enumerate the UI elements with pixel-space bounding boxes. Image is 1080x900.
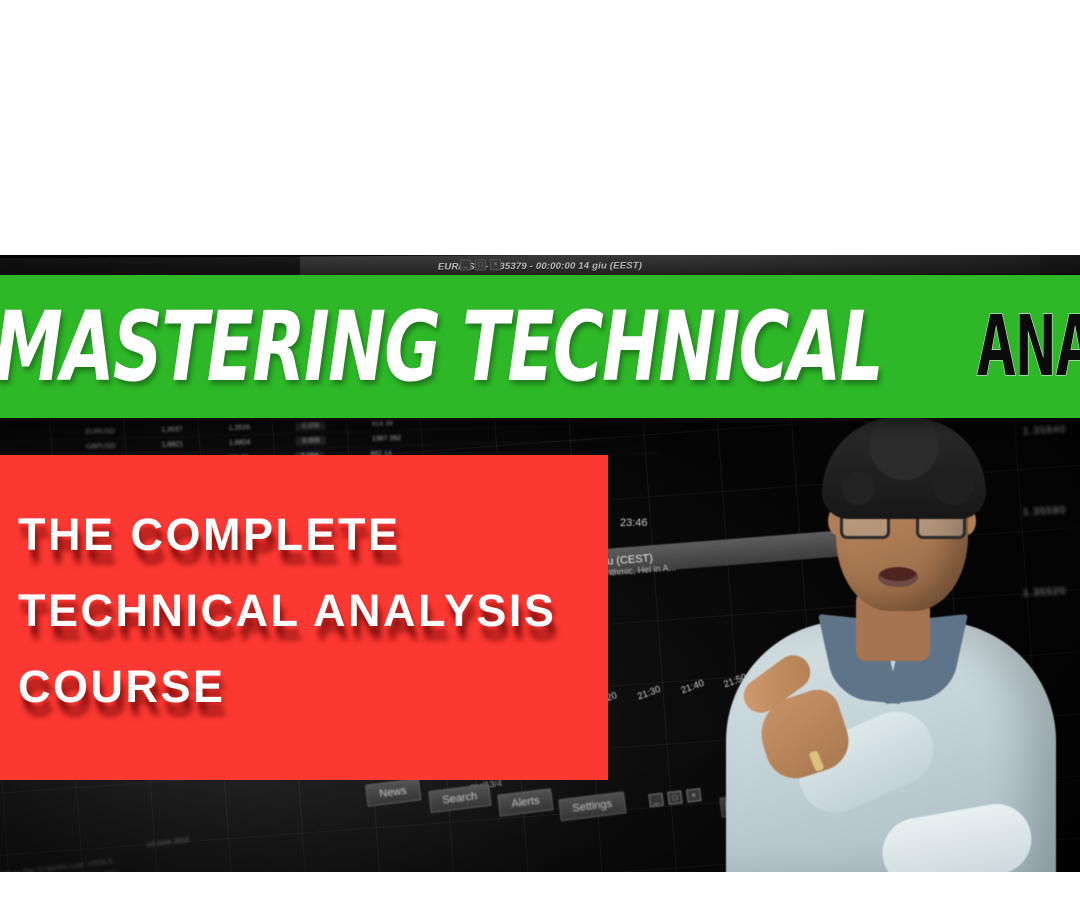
course-thumbnail: _ □ × EUR/USD - 1,35379 - 00:00:00 14 gi… [0,255,1080,872]
course-title-line-2: TECHNICAL ANALYSIS [18,573,608,649]
headline-banner: MASTERING TECHNICAL ANALYSIS [0,275,1080,418]
course-title-box: THE COMPLETE TECHNICAL ANALYSIS COURSE [0,455,608,780]
course-title-line-3: COURSE [18,649,608,725]
instructor-photo [700,395,1080,872]
course-title-line-1: THE COMPLETE [18,497,608,573]
headline-secondary: ANALYSIS [976,304,1080,388]
page-root: _ □ × EUR/USD - 1,35379 - 00:00:00 14 gi… [0,0,1080,900]
mouth [878,567,918,587]
hair [822,417,986,519]
headline-primary: MASTERING TECHNICAL [0,299,882,395]
